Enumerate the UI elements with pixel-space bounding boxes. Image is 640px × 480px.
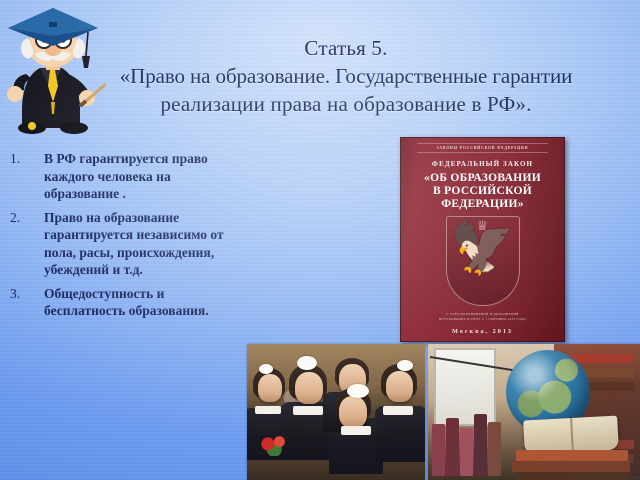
uniform-collar: [255, 406, 281, 414]
list-item-number: 3.: [8, 285, 44, 303]
book-stack: [516, 450, 628, 461]
upright-book: [446, 418, 459, 476]
book-stack: [518, 472, 628, 480]
presentation-slide: Статья 5. «Право на образование. Государ…: [0, 0, 640, 480]
hair-bow: [259, 364, 273, 374]
hair-bow: [297, 356, 317, 370]
book-title-line-1: «ОБ ОБРАЗОВАНИИ: [401, 172, 564, 185]
list-item: 1. В РФ гарантируется право каждого чело…: [8, 150, 246, 203]
flowers: [257, 434, 293, 456]
book-fine-print: С УЧЁТОМ ИЗМЕНЕНИЙ И ДОПОЛНЕНИЙ ВСТУПАЮЩ…: [415, 312, 550, 322]
open-book: [523, 416, 619, 455]
russian-coat-of-arms-icon: ♕ 🦅: [446, 216, 520, 306]
title-line-2: «Право на образование. Государственные г…: [70, 62, 622, 90]
book-law-label: ФЕДЕРАЛЬНЫЙ ЗАКОН: [401, 160, 564, 168]
list-item-text: Право на образование гарантируется незав…: [44, 209, 246, 279]
upright-book: [460, 428, 473, 476]
book-stack: [512, 461, 630, 472]
title-line-3: реализации права на образование в РФ».: [70, 90, 622, 118]
list-item-text: В РФ гарантируется право каждого человек…: [44, 150, 246, 203]
upright-book: [488, 422, 501, 476]
book-city-year: Москва, 2013: [401, 328, 564, 335]
slide-title: Статья 5. «Право на образование. Государ…: [70, 34, 622, 118]
federal-law-book-cover: ЗАКОНЫ РОССИЙСКОЙ ФЕДЕРАЦИИ ФЕДЕРАЛЬНЫЙ …: [400, 137, 565, 342]
uniform-collar: [293, 406, 323, 415]
upright-book: [432, 424, 445, 476]
book-title-line-3: ФЕДЕРАЦИИ»: [401, 198, 564, 211]
globe-and-books-photo: [428, 344, 640, 480]
list-item: 2. Право на образование гарантируется не…: [8, 209, 246, 279]
classroom-photo: [247, 344, 425, 480]
book-fine-print-line-2: ВСТУПАЮЩИХ В СИЛУ С 1 СЕНТЯБРЯ 2013 ГОДА: [415, 317, 550, 322]
list-item-text: Общедоступность и бесплатность образован…: [44, 285, 246, 320]
upright-book: [474, 414, 487, 476]
book-kicker-text: ЗАКОНЫ РОССИЙСКОЙ ФЕДЕРАЦИИ: [417, 143, 548, 153]
double-headed-eagle-icon: 🦅: [450, 223, 515, 275]
list-item: 3. Общедоступность и бесплатность образо…: [8, 285, 246, 320]
list-item-number: 1.: [8, 150, 44, 168]
guarantees-list: 1. В РФ гарантируется право каждого чело…: [8, 150, 246, 326]
title-line-1: Статья 5.: [70, 34, 622, 62]
uniform-collar: [341, 426, 371, 435]
pupil-face: [295, 372, 323, 404]
pupil-face: [339, 396, 367, 428]
hair-bow: [347, 384, 369, 398]
hair-bow: [397, 360, 413, 371]
pupil-face: [258, 374, 282, 402]
list-item-number: 2.: [8, 209, 44, 227]
book-title-line-2: В РОССИЙСКОЙ: [401, 185, 564, 198]
uniform-collar: [383, 406, 413, 415]
pupil-face: [386, 371, 413, 402]
